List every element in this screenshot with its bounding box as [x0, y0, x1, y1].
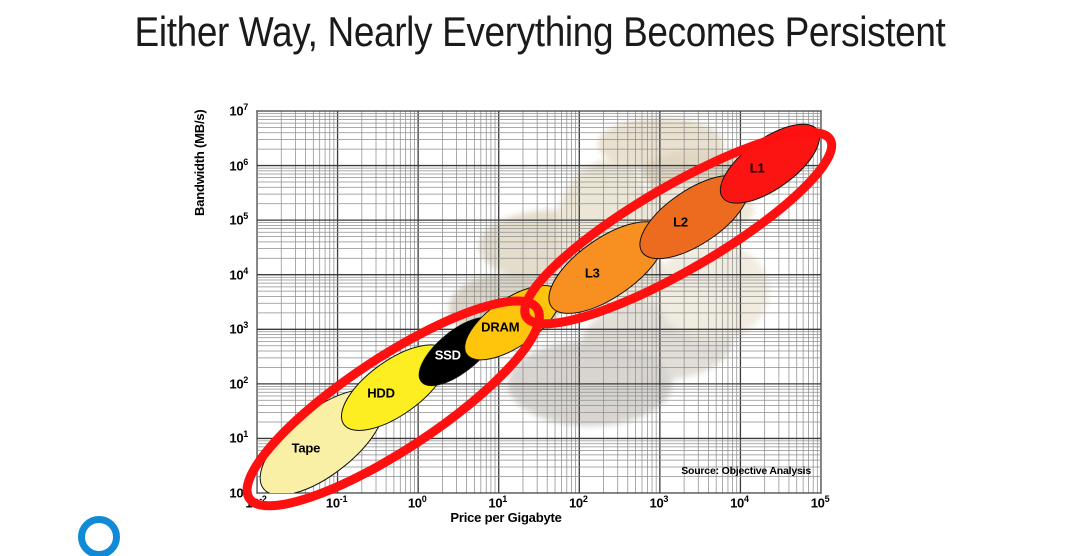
y-tick-10e1: 101: [214, 429, 248, 445]
y-tick-10e6: 106: [214, 157, 248, 173]
y-tick-10e2: 102: [214, 375, 248, 391]
logo-ring: [78, 516, 120, 556]
bubble-label-l3: L3: [585, 265, 600, 280]
x-tick-10e-1: 10-1: [317, 494, 357, 510]
memory-tier-bubbles: [256, 110, 822, 494]
bubble-label-ssd: SSD: [435, 348, 461, 363]
bubble-label-tape: Tape: [292, 441, 321, 456]
bubble-label-l1: L1: [750, 161, 765, 176]
page-title: Either Way, Nearly Everything Becomes Pe…: [65, 8, 1015, 56]
y-tick-10e7: 107: [214, 102, 248, 118]
y-tick-10e3: 103: [214, 320, 248, 336]
y-tick-10e5: 105: [214, 211, 248, 227]
x-tick-10e4: 104: [719, 494, 759, 510]
y-tick-10e4: 104: [214, 266, 248, 282]
x-axis-title: Price per Gigabyte: [196, 510, 816, 525]
bubble-label-dram: DRAM: [481, 319, 519, 334]
blue-circle-logo: [78, 516, 122, 556]
memory-hierarchy-chart: Bandwidth (MB/s) Price per Gigabyte 1071…: [196, 96, 856, 534]
x-tick-10e-2: 10-2: [236, 494, 276, 510]
x-tick-10e2: 102: [558, 494, 598, 510]
source-caption: Source: Objective Analysis: [681, 465, 811, 477]
bubble-label-hdd: HDD: [367, 385, 395, 400]
bubble-label-l2: L2: [673, 214, 688, 229]
x-tick-10e3: 103: [639, 494, 679, 510]
plot-area: TapeHDDSSDDRAML3L2L1 Source: Objective A…: [256, 110, 822, 494]
x-tick-10e5: 105: [800, 494, 840, 510]
x-tick-10e0: 100: [397, 494, 437, 510]
y-axis-title: Bandwidth (MB/s): [192, 109, 207, 216]
x-tick-10e1: 101: [478, 494, 518, 510]
